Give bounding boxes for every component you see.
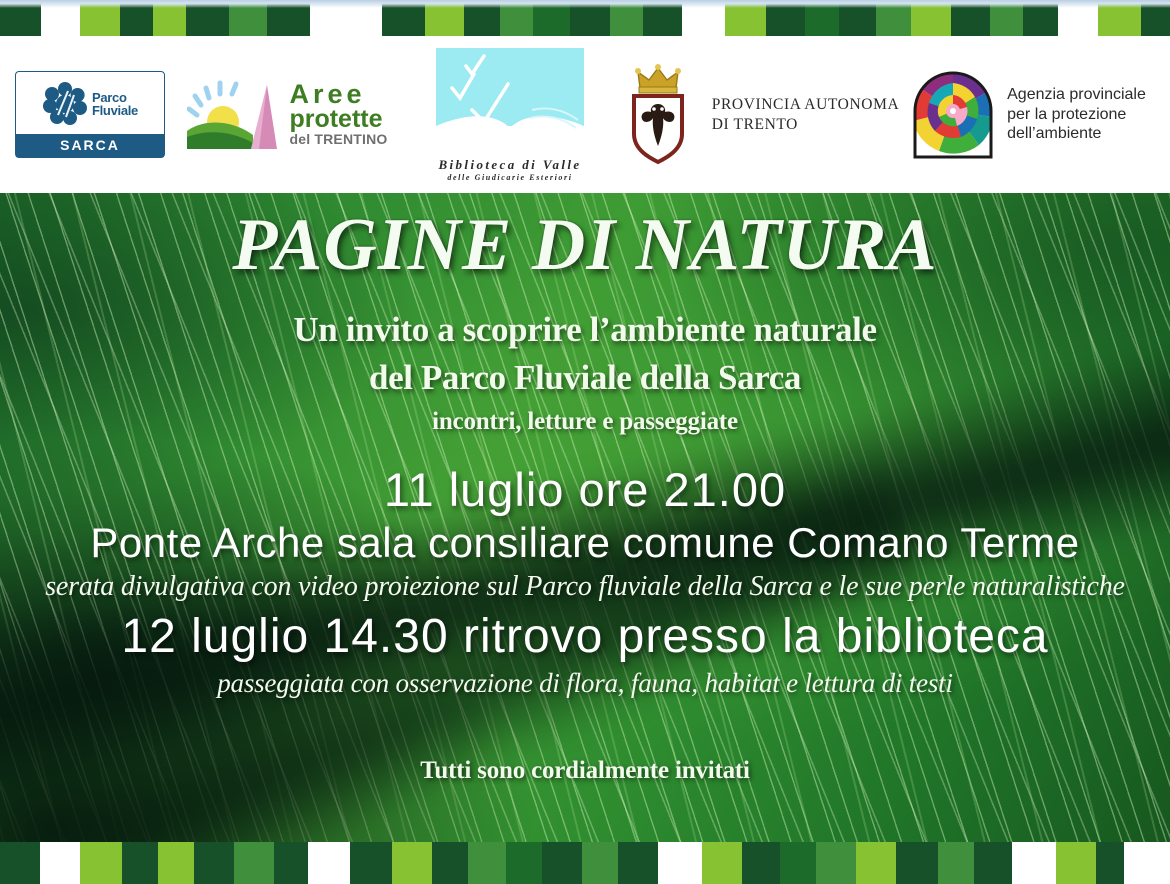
decorative-square [153, 0, 186, 36]
logo-provincia-autonoma-trento: PROVINCIA AUTONOMA DI TRENTO [625, 55, 900, 175]
parco-flower-icon [42, 81, 88, 127]
agenzia-line2: per la protezione [1007, 105, 1146, 125]
decorative-square [856, 842, 896, 884]
decorative-square [500, 0, 533, 36]
subtitle-line-3: incontri, letture e passeggiate [0, 408, 1170, 436]
decorative-square [610, 0, 643, 36]
decorative-square [702, 842, 742, 884]
decorative-square [570, 0, 609, 36]
event-1-place: Ponte Arche sala consiliare comune Coman… [0, 519, 1170, 567]
decorative-square [742, 842, 780, 884]
decorative-square [951, 0, 990, 36]
trento-eagle-shield-icon [626, 64, 702, 166]
decorative-square [382, 0, 425, 36]
decorative-square [464, 0, 499, 36]
parco-logo-box: Parco Fluviale SARCA [15, 71, 165, 158]
aree-line2: protette [289, 108, 387, 132]
crown-icon [635, 64, 681, 93]
decorative-square [1096, 842, 1124, 884]
decorative-square [1012, 842, 1056, 884]
decorative-square [805, 0, 838, 36]
decorative-square [1023, 0, 1058, 36]
decorative-square [350, 842, 392, 884]
decorative-square [816, 842, 856, 884]
decorative-square [40, 842, 80, 884]
logo-biblioteca-di-valle: Biblioteca di Valle delle Giudicarie Est… [395, 55, 625, 175]
decorative-square [780, 842, 816, 884]
decorative-square [234, 842, 274, 884]
decorative-square [186, 0, 229, 36]
decorative-square [725, 0, 766, 36]
decorative-square [274, 842, 308, 884]
logo-agenzia-protezione-ambiente: Agenzia provinciale per la protezione de… [900, 55, 1155, 175]
decorative-square [80, 842, 122, 884]
decorative-square [80, 0, 119, 36]
top-decorative-strip [0, 0, 1170, 36]
biblioteca-line1: Biblioteca di Valle [422, 157, 598, 173]
poster-root: Parco Fluviale SARCA [0, 0, 1170, 884]
page-title: PAGINE DI NATURA [0, 203, 1170, 288]
parco-name-line2: Fluviale [92, 104, 138, 117]
logo-parco-fluviale-sarca: Parco Fluviale SARCA [0, 55, 180, 175]
event-2-description: passeggiata con osservazione di flora, f… [0, 668, 1170, 699]
biblioteca-book-icon [422, 48, 598, 152]
bottom-decorative-strip [0, 842, 1170, 884]
decorative-square [658, 842, 702, 884]
decorative-square [1098, 0, 1141, 36]
aree-sunrise-icon [187, 79, 279, 151]
decorative-square [682, 0, 725, 36]
decorative-square [122, 842, 158, 884]
decorative-square [432, 842, 468, 884]
provincia-line1: PROVINCIA AUTONOMA [712, 95, 900, 114]
decorative-square [643, 0, 682, 36]
poster-copy: PAGINE DI NATURA Un invito a scoprire l’… [0, 203, 1170, 842]
biblioteca-line2: delle Giudicarie Esteriori [422, 173, 598, 182]
decorative-square [1056, 842, 1096, 884]
decorative-square [542, 842, 582, 884]
decorative-square [582, 842, 618, 884]
appa-spiral-icon [909, 67, 997, 163]
decorative-square [120, 0, 153, 36]
decorative-square [938, 842, 974, 884]
subtitle-line-2: del Parco Fluviale della Sarca [0, 358, 1170, 398]
event-1-headline: 11 luglio ore 21.00 [0, 462, 1170, 517]
agenzia-line1: Agenzia provinciale [1007, 85, 1146, 105]
sponsor-logo-bar: Parco Fluviale SARCA [0, 36, 1170, 193]
decorative-square [310, 0, 383, 36]
decorative-square [468, 842, 506, 884]
decorative-square [1141, 0, 1170, 36]
decorative-square [990, 0, 1023, 36]
parco-banner-sarca: SARCA [16, 134, 164, 157]
decorative-square [618, 842, 658, 884]
decorative-square [876, 0, 911, 36]
subtitle-line-1: Un invito a scoprire l’ambiente naturale [0, 310, 1170, 350]
closing-line: Tutti sono cordialmente invitati [0, 757, 1170, 785]
decorative-square [911, 0, 950, 36]
agenzia-line3: dell’ambiente [1007, 124, 1146, 144]
decorative-square [533, 0, 570, 36]
decorative-square [0, 842, 40, 884]
decorative-square [308, 842, 350, 884]
aree-line1: Aree [289, 82, 387, 108]
parco-name-line1: Parco [92, 91, 138, 104]
provincia-line2: DI TRENTO [712, 115, 900, 134]
leaf-background-panel: PAGINE DI NATURA Un invito a scoprire l’… [0, 193, 1170, 842]
decorative-square [839, 0, 876, 36]
decorative-square [267, 0, 310, 36]
decorative-square [974, 842, 1012, 884]
decorative-square [506, 842, 542, 884]
aree-line3: del TRENTINO [289, 132, 387, 147]
decorative-square [0, 0, 41, 36]
decorative-square [425, 0, 464, 36]
decorative-square [229, 0, 266, 36]
event-1-description: serata divulgativa con video proiezione … [0, 571, 1170, 603]
decorative-square [392, 842, 432, 884]
decorative-square [158, 842, 194, 884]
event-2-headline: 12 luglio 14.30 ritrovo presso la biblio… [0, 609, 1170, 664]
decorative-square [896, 842, 938, 884]
decorative-square [194, 842, 234, 884]
decorative-square [1058, 0, 1097, 36]
logo-aree-protette: Aree protette del TRENTINO [180, 55, 395, 175]
decorative-square [41, 0, 80, 36]
decorative-square [766, 0, 805, 36]
